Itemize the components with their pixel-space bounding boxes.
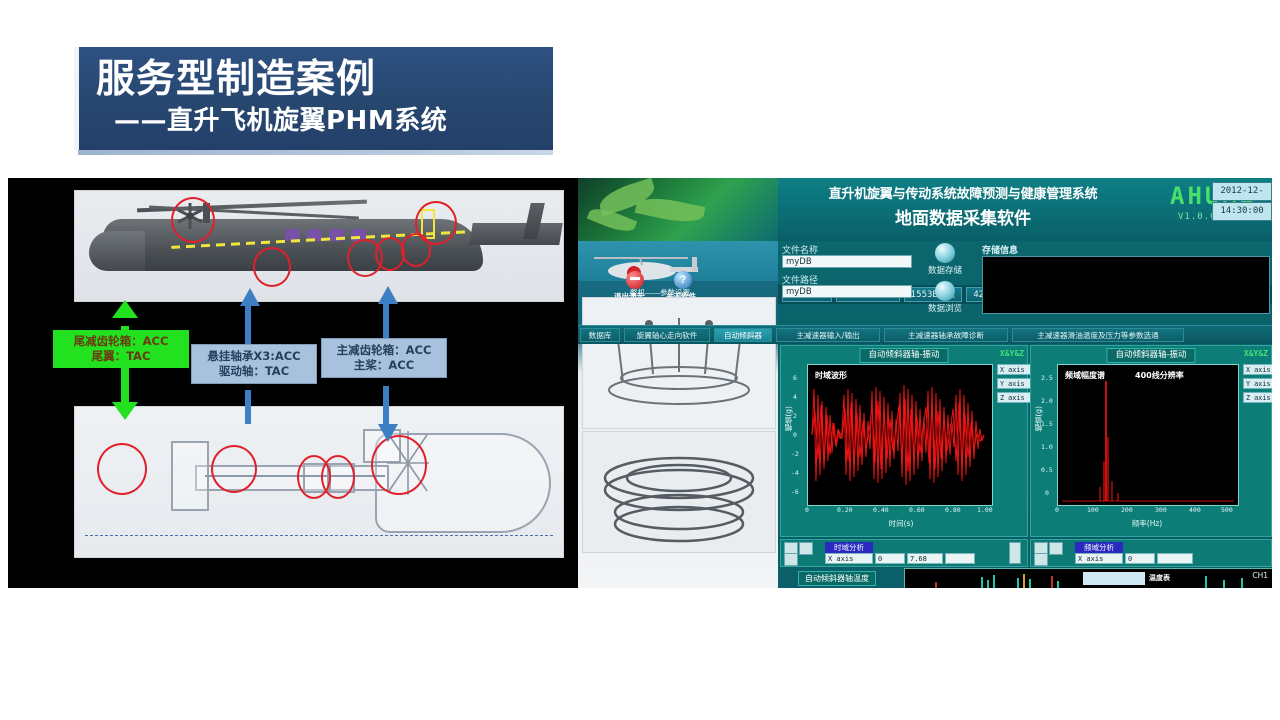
content-image-area: 尾减齿轮箱：ACC 尾翼：TAC 悬挂轴承X3:ACC 驱动轴：TAC 主减齿轮… <box>8 178 1272 588</box>
channel-tag: CH1 <box>1252 571 1268 580</box>
storage-info-output <box>982 256 1270 314</box>
axis-select-z[interactable]: Z axis <box>1243 392 1272 403</box>
x-tick: 0 <box>805 506 809 514</box>
time-domain-controls: 时域分析 X axis 0 7.68 <box>780 539 1028 567</box>
y-tick: 2 <box>793 412 797 420</box>
x-tick: 0.60 <box>909 506 925 514</box>
label-hanger-bearing: 悬挂轴承X3:ACC 驱动轴：TAC <box>191 344 317 384</box>
frequency-spectrum <box>1058 365 1238 505</box>
helicopter-nose <box>89 231 145 271</box>
label-line-2: 主桨：ACC <box>328 358 440 373</box>
chart-subtitle: 频域幅度谱 <box>1065 370 1105 381</box>
axis-select-y[interactable]: Y axis <box>1243 378 1272 389</box>
menu-item-rotor-axis[interactable]: 旋翼轴心走向软件 <box>624 328 710 342</box>
analysis-cell[interactable] <box>1157 553 1193 564</box>
temp-bar <box>1241 578 1243 588</box>
bearing-photo <box>582 431 776 553</box>
x-tick: 300 <box>1155 506 1167 514</box>
label-line-2: 尾翼：TAC <box>59 349 183 364</box>
pan-icon[interactable] <box>1049 542 1063 555</box>
data-browse-button[interactable]: 数据浏览 <box>922 281 968 314</box>
callout-arrow-blue-head <box>378 286 398 304</box>
x-tick: 0.20 <box>837 506 853 514</box>
chart-x-axis-label: 频率(Hz) <box>1097 518 1197 529</box>
chart-plot-area <box>1057 364 1239 506</box>
x-tick: 500 <box>1221 506 1233 514</box>
y-tick: 0 <box>793 431 797 439</box>
chart-time-domain: 自动倾斜器轴-振动 X&Y&Z 幅值(g) 6 4 2 0 -2 -4 -6 <box>780 345 1028 537</box>
callout-arrow-blue <box>383 386 389 426</box>
data-storage-label: 数据存储 <box>928 266 962 276</box>
y-tick: 1.0 <box>1041 443 1053 451</box>
chart-legend: X&Y&Z <box>1244 349 1268 358</box>
y-tick: 0.5 <box>1041 466 1053 474</box>
storage-settings-form: 文件名称 myDB 文件路径 myDB <box>778 243 928 315</box>
analysis-mode-label: 时域分析 <box>825 542 873 553</box>
swashplate-photo <box>582 297 776 429</box>
frequency-domain-controls: 频域分析 X axis 0 <box>1030 539 1272 567</box>
label-line-1: 主减齿轮箱：ACC <box>328 343 440 358</box>
helicopter-schematic <box>74 406 564 558</box>
chart-legend: X&Y&Z <box>1000 349 1024 358</box>
temp-bar <box>993 575 995 588</box>
menu-item-swashplate[interactable]: 自动倾斜器 <box>714 328 772 342</box>
label-tail-gearbox: 尾减齿轮箱：ACC 尾翼：TAC <box>53 330 189 368</box>
system-title: 直升机旋翼与传动系统故障预测与健康管理系统 <box>773 183 1153 202</box>
chart-title: 自动倾斜器轴-振动 <box>859 348 948 363</box>
schematic-baseline <box>85 535 553 536</box>
slide-title-block: 服务型制造案例 ——直升飞机旋翼PHM系统 <box>78 47 553 162</box>
label-line-1: 尾减齿轮箱：ACC <box>59 334 183 349</box>
temp-bar <box>1223 580 1225 588</box>
photo-sidebar: 整机——参数设置 ? 退出演示 关于软件 <box>578 241 778 588</box>
temp-bar <box>987 580 989 588</box>
sensor-marker <box>97 443 147 495</box>
menu-item-database[interactable]: 数据库 <box>580 328 620 342</box>
temp-bar <box>1017 578 1019 588</box>
y-tick: 2.5 <box>1041 374 1053 382</box>
x-tick: 0.80 <box>945 506 961 514</box>
helicopter-tailboom <box>469 223 562 245</box>
helicopter-diagram-panel: 尾减齿轮箱：ACC 尾翼：TAC 悬挂轴承X3:ACC 驱动轴：TAC 主减齿轮… <box>8 178 578 588</box>
title-accent <box>74 47 79 150</box>
label-main-gearbox: 主减齿轮箱：ACC 主桨：ACC <box>321 338 447 378</box>
menu-item-bearing-diag[interactable]: 主减速器轴承故障诊断 <box>884 328 1008 342</box>
temperature-title: 自动倾斜器轴温度 <box>798 571 876 586</box>
temp-bar <box>1057 581 1059 588</box>
swashplate-illustration <box>583 298 775 428</box>
module-menubar: 数据库 旋翼轴心走向软件 自动倾斜器 主减速器输入/输出 主减速器轴承故障诊断 … <box>578 325 1272 344</box>
x-tick: 200 <box>1121 506 1133 514</box>
temp-bar <box>1051 576 1053 588</box>
temp-readout <box>1083 572 1145 585</box>
x-tick: 400 <box>1189 506 1201 514</box>
analysis-cell[interactable]: 0 <box>875 553 905 564</box>
analysis-mode-label: 频域分析 <box>1075 542 1123 553</box>
y-tick: -4 <box>791 469 799 477</box>
menu-item-oil-params[interactable]: 主减速器滑油温度及压力等参数选通 <box>1012 328 1184 342</box>
temp-bar <box>1205 576 1207 588</box>
time-display: 14:30:00 <box>1212 202 1272 221</box>
analysis-cell[interactable]: 7.68 <box>907 553 943 564</box>
bearing-illustration <box>583 432 775 552</box>
hand-icon <box>935 281 955 301</box>
page-title: 服务型制造案例 <box>96 56 376 103</box>
temp-bar <box>1029 579 1031 588</box>
file-path-input[interactable]: myDB <box>782 285 912 298</box>
x-tick: 100 <box>1087 506 1099 514</box>
x-tick: 0.40 <box>873 506 889 514</box>
time-domain-waveform <box>808 365 992 505</box>
analysis-row-label: X axis <box>825 553 873 564</box>
sensor-marker <box>171 197 215 243</box>
y-tick: 6 <box>793 374 797 382</box>
ahums-software-screenshot: 直升机旋翼与传动系统故障预测与健康管理系统 地面数据采集软件 AHUMS V1.… <box>578 178 1272 588</box>
data-browse-label: 数据浏览 <box>928 304 962 314</box>
x-tick: 0 <box>1055 506 1059 514</box>
chart-subtitle: 时域波形 <box>815 370 847 381</box>
scroll-handle[interactable] <box>1009 542 1021 564</box>
title-underline <box>78 150 553 155</box>
analysis-row-label: X axis <box>1075 553 1123 564</box>
chart-frequency-domain: 自动倾斜器轴-振动 X&Y&Z 幅值(g) 2.5 2.0 1.5 1.0 0.… <box>1030 345 1272 537</box>
label-line-1: 悬挂轴承X3:ACC <box>198 349 310 364</box>
y-tick: -2 <box>791 450 799 458</box>
label-line-2: 驱动轴：TAC <box>198 364 310 379</box>
header-decor-photo <box>578 178 778 241</box>
date-display: 2012-12- <box>1212 182 1272 201</box>
chart-title: 自动倾斜器轴-振动 <box>1106 348 1195 363</box>
x-tick: 1.00 <box>977 506 993 514</box>
file-name-input[interactable]: myDB <box>782 255 912 268</box>
y-tick: 4 <box>793 393 797 401</box>
pan-icon[interactable] <box>799 542 813 555</box>
menu-item-gearbox-io[interactable]: 主减速器输入/输出 <box>776 328 880 342</box>
callout-arrow-green-head <box>112 402 138 420</box>
sensor-marker <box>371 435 427 495</box>
temp-bar <box>981 577 983 588</box>
axis-select-x[interactable]: X axis <box>1243 364 1272 375</box>
temp-bar <box>1023 574 1025 588</box>
temp-tag: 温度表 <box>1149 573 1170 583</box>
callout-arrow-green-head <box>112 300 138 318</box>
storage-info-label: 存储信息 <box>982 243 1018 256</box>
chart-x-axis-label: 时间(s) <box>851 518 951 529</box>
sensor-marker <box>415 201 457 245</box>
cursor-icon[interactable] <box>784 553 798 566</box>
software-header: 直升机旋翼与传动系统故障预测与健康管理系统 地面数据采集软件 AHUMS V1.… <box>578 178 1272 241</box>
cursor-icon[interactable] <box>1034 553 1048 566</box>
sensor-marker <box>211 445 257 493</box>
temperature-panel: 温度表 自动倾斜器轴温度 CH1 <box>778 568 1272 588</box>
analysis-cell[interactable]: 0 <box>1125 553 1155 564</box>
software-body: 整机——参数设置 ? 退出演示 关于软件 <box>578 241 1272 588</box>
y-tick: 0 <box>1045 489 1049 497</box>
data-storage-button[interactable]: 数据存储 <box>922 243 968 276</box>
question-icon[interactable]: ? <box>674 271 692 289</box>
module-title: 地面数据采集软件 <box>773 204 1153 229</box>
sensor-marker <box>253 247 291 287</box>
helicopter-photo <box>74 190 564 302</box>
callout-arrow-blue-head <box>240 288 260 306</box>
temperature-plot: 温度表 <box>904 568 1272 588</box>
refresh-icon <box>935 243 955 263</box>
chart-annotation: 400线分辨率 <box>1135 370 1184 381</box>
y-tick: 2.0 <box>1041 397 1053 405</box>
stop-icon-bar <box>630 277 640 280</box>
temp-bar <box>935 582 937 588</box>
y-tick: 1.5 <box>1041 420 1053 428</box>
callout-arrow-blue <box>245 390 251 424</box>
schematic-tailfin <box>171 441 209 511</box>
chart-plot-area <box>807 364 993 506</box>
slide-root: 服务型制造案例 ——直升飞机旋翼PHM系统 <box>0 0 1280 720</box>
callout-arrow-blue-head <box>378 424 398 442</box>
stop-icon[interactable] <box>626 271 644 289</box>
y-tick: -6 <box>791 488 799 496</box>
page-subtitle: ——直升飞机旋翼PHM系统 <box>114 104 447 138</box>
analysis-cell[interactable] <box>945 553 975 564</box>
sensor-marker <box>321 455 355 499</box>
